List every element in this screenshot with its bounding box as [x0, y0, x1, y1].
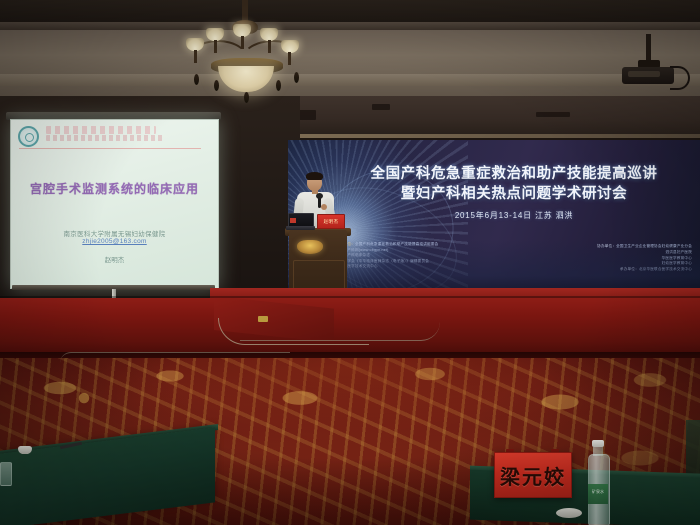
slide-divider [19, 148, 201, 149]
conference-hall-photo: 宫腔手术监测系统的临床应用 南京医科大学附属无锡妇幼保健院 zhjie2005@… [0, 0, 700, 525]
slide-title: 宫腔手术监测系统的临床应用 [11, 180, 218, 197]
bottle-label-text: 矿泉水 [588, 489, 608, 495]
water-glass [0, 462, 12, 486]
soffit-vent [372, 104, 390, 110]
chandelier-bowl [218, 66, 274, 92]
table-nameplate-text: 梁元姣 [500, 461, 566, 490]
podium-name-card: 赵明杰 [317, 214, 345, 229]
floor-cable [240, 322, 440, 341]
cup [18, 446, 32, 454]
podium-name-card-text: 赵明杰 [324, 219, 339, 225]
speaker-hair [306, 172, 323, 180]
wall-molding-band [0, 74, 700, 86]
banner-title-line2: 暨妇产科相关热点问题学术研讨会 [328, 182, 700, 203]
chandelier-crystal [294, 72, 299, 83]
slide-email: zhjie2005@163.com [11, 238, 218, 245]
slide-presenter-name: 赵明杰 [11, 254, 218, 264]
slide-header-graphic-row2 [46, 135, 164, 141]
chandelier-lamp-stem [268, 40, 271, 53]
chandelier-crystal [214, 80, 219, 91]
saucer [556, 508, 582, 518]
chandelier-lamp-stem [214, 40, 217, 53]
bottle-cap [592, 440, 604, 447]
stage-edge [0, 296, 700, 298]
slide-header-graphic [46, 126, 156, 134]
chandelier [178, 0, 318, 100]
chandelier-crystal [276, 80, 281, 91]
chandelier-crystal [244, 92, 249, 103]
projection-screen: 宫腔手术监测系统的临床应用 南京医科大学附属无锡妇幼保健院 zhjie2005@… [10, 119, 219, 289]
slide-affiliation: 南京医科大学附属无锡妇幼保健院 [11, 228, 218, 238]
ceiling-projector [618, 34, 688, 94]
projector-lens [628, 71, 660, 77]
podium-gold-emblem [297, 240, 323, 254]
laptop-logo-icon [290, 218, 296, 223]
chandelier-lamp-stem [194, 50, 197, 63]
soffit-vent [536, 112, 570, 117]
banner-title-line1: 全国产科危急重症救治和助产技能提高巡讲 [328, 162, 700, 183]
projector-cable [670, 66, 690, 90]
cable-connector [258, 316, 268, 322]
banner-date-location: 2015年6月13-14日 江苏 泗洪 [328, 210, 700, 221]
chandelier-lamp-stem [288, 52, 291, 65]
table-nameplate: 梁元姣 [494, 452, 572, 498]
upper-wall [0, 30, 700, 102]
chandelier-crystal [194, 74, 199, 85]
microphone-head-icon [316, 193, 323, 199]
chandelier-lamp-stem [241, 36, 244, 49]
speaker-hand [321, 204, 327, 210]
right-edge-shadow [686, 420, 700, 480]
water-bottle: 矿泉水 [588, 440, 608, 524]
slide-logo-icon [18, 126, 39, 147]
